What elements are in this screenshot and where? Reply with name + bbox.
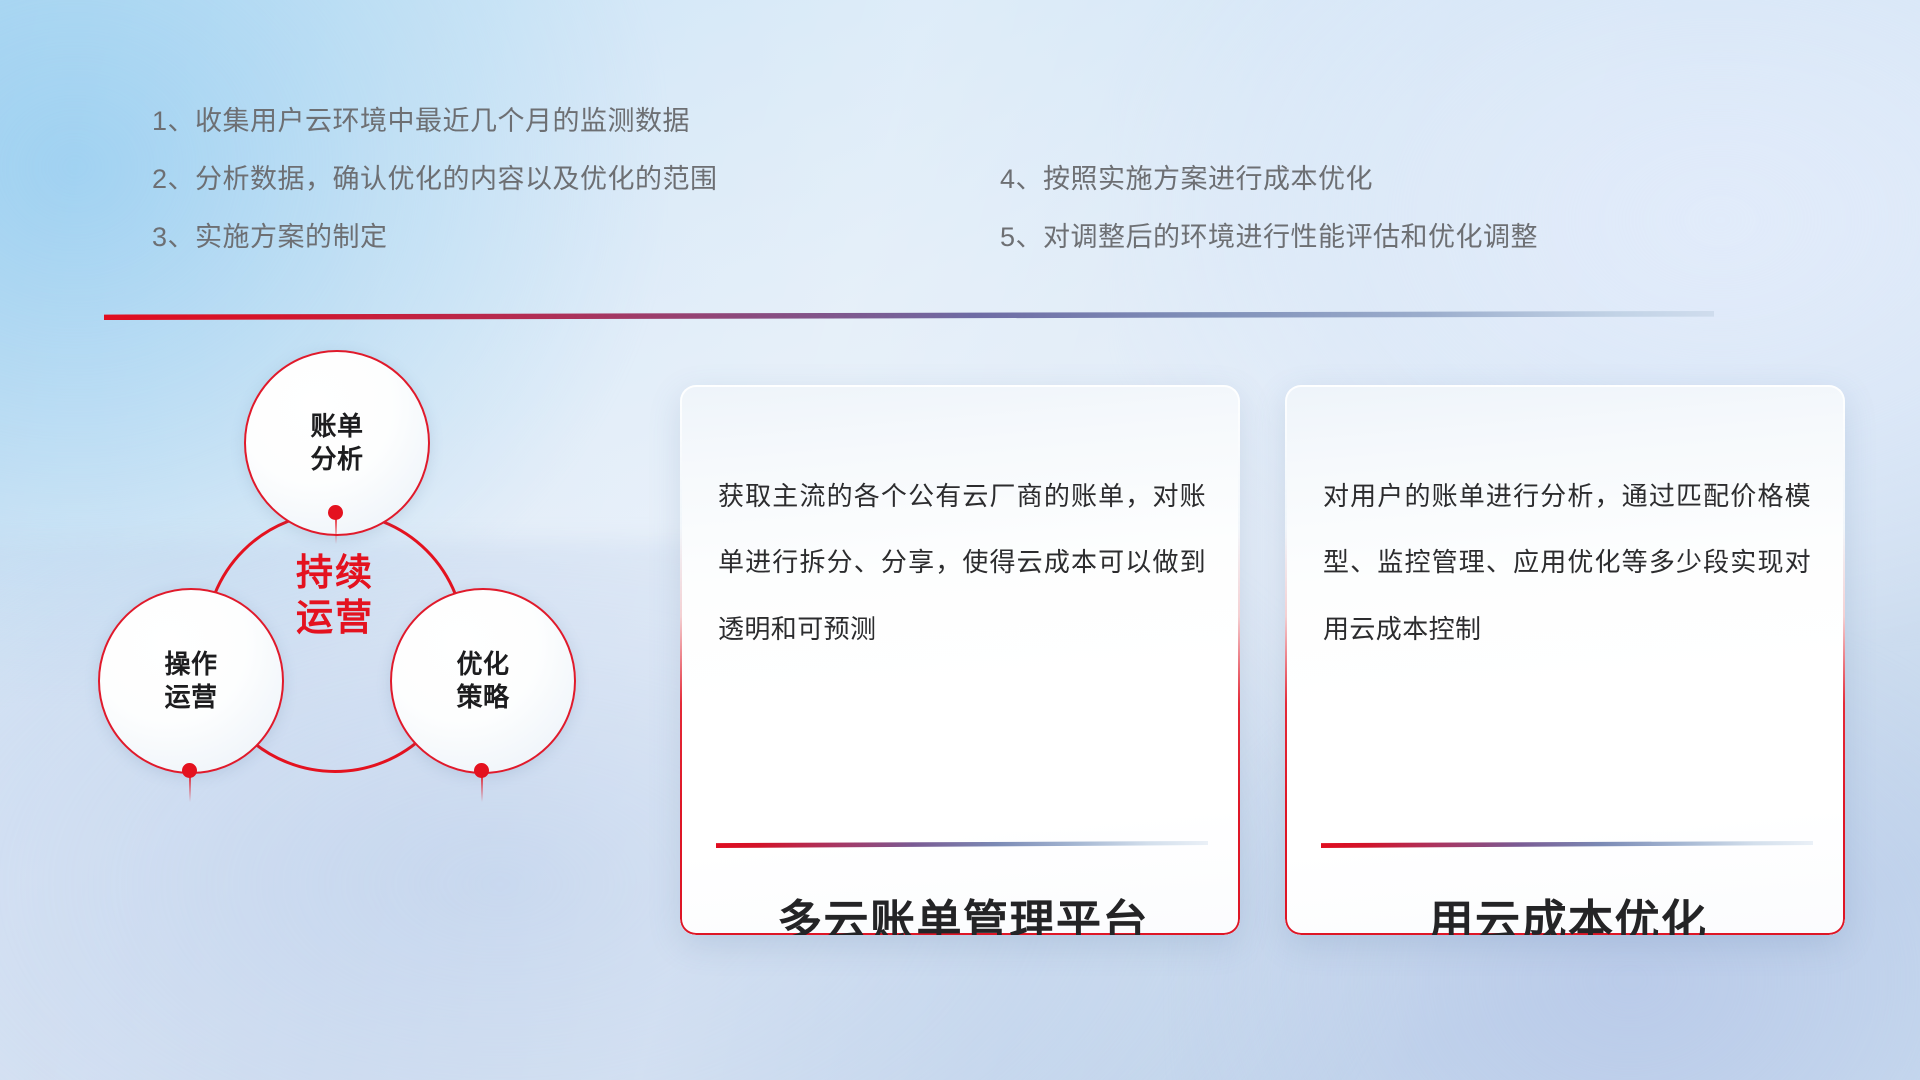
venn-lobe-top-line-2: 分析: [310, 443, 363, 476]
venn-tail-right: [481, 776, 483, 802]
steps-list-left: 1、收集用户云环境中最近几个月的监测数据 2、分析数据，确认优化的内容以及优化的…: [152, 92, 912, 266]
card-2-description: 对用户的账单进行分析，通过匹配价格模型、监控管理、应用优化等多少段实现对用云成本…: [1323, 463, 1811, 662]
venn-lobe-left-label: 操作 运营: [164, 648, 217, 715]
step-item-3: 3、实施方案的制定: [152, 208, 912, 266]
venn-lobe-right-line-2: 策略: [456, 681, 509, 714]
venn-node-dot-top: [328, 505, 343, 520]
step-item-4: 4、按照实施方案进行成本优化: [1000, 150, 1820, 208]
card-2-rule: [1321, 841, 1813, 848]
steps-list-right: 4、按照实施方案进行成本优化 5、对调整后的环境进行性能评估和优化调整: [1000, 150, 1820, 266]
card-1-description: 获取主流的各个公有云厂商的账单，对账单进行拆分、分享，使得云成本可以做到透明和可…: [718, 463, 1206, 662]
card-multicloud-billing-platform[interactable]: 获取主流的各个公有云厂商的账单，对账单进行拆分、分享，使得云成本可以做到透明和可…: [680, 385, 1240, 935]
card-1-title: 多云账单管理平台: [716, 885, 1210, 935]
venn-lobe-top-line-1: 账单: [310, 410, 363, 443]
venn-node-dot-left: [182, 763, 197, 778]
venn-lobe-left-line-1: 操作: [164, 648, 217, 681]
venn-lobe-right-line-1: 优化: [456, 648, 509, 681]
venn-tail-top: [335, 518, 337, 544]
venn-node-dot-right: [474, 763, 489, 778]
card-2-title: 用云成本优化: [1321, 885, 1815, 935]
card-cloud-cost-optimization[interactable]: 对用户的账单进行分析，通过匹配价格模型、监控管理、应用优化等多少段实现对用云成本…: [1285, 385, 1845, 935]
venn-lobe-right-label: 优化 策略: [456, 648, 509, 715]
venn-tail-left: [189, 776, 191, 802]
step-item-5: 5、对调整后的环境进行性能评估和优化调整: [1000, 208, 1820, 266]
step-item-2: 2、分析数据，确认优化的内容以及优化的范围: [152, 150, 912, 208]
continuous-operation-diagram: 持续 运营 账单 分析 操作 运营 优化 策略: [88, 350, 658, 950]
venn-lobe-operations[interactable]: 操作 运营: [98, 588, 284, 774]
step-item-1: 1、收集用户云环境中最近几个月的监测数据: [152, 92, 912, 150]
card-1-rule: [716, 841, 1208, 848]
venn-center-line-1: 持续: [204, 550, 466, 595]
venn-lobe-top-label: 账单 分析: [310, 410, 363, 477]
venn-lobe-left-line-2: 运营: [164, 681, 217, 714]
venn-lobe-optimization-strategy[interactable]: 优化 策略: [390, 588, 576, 774]
